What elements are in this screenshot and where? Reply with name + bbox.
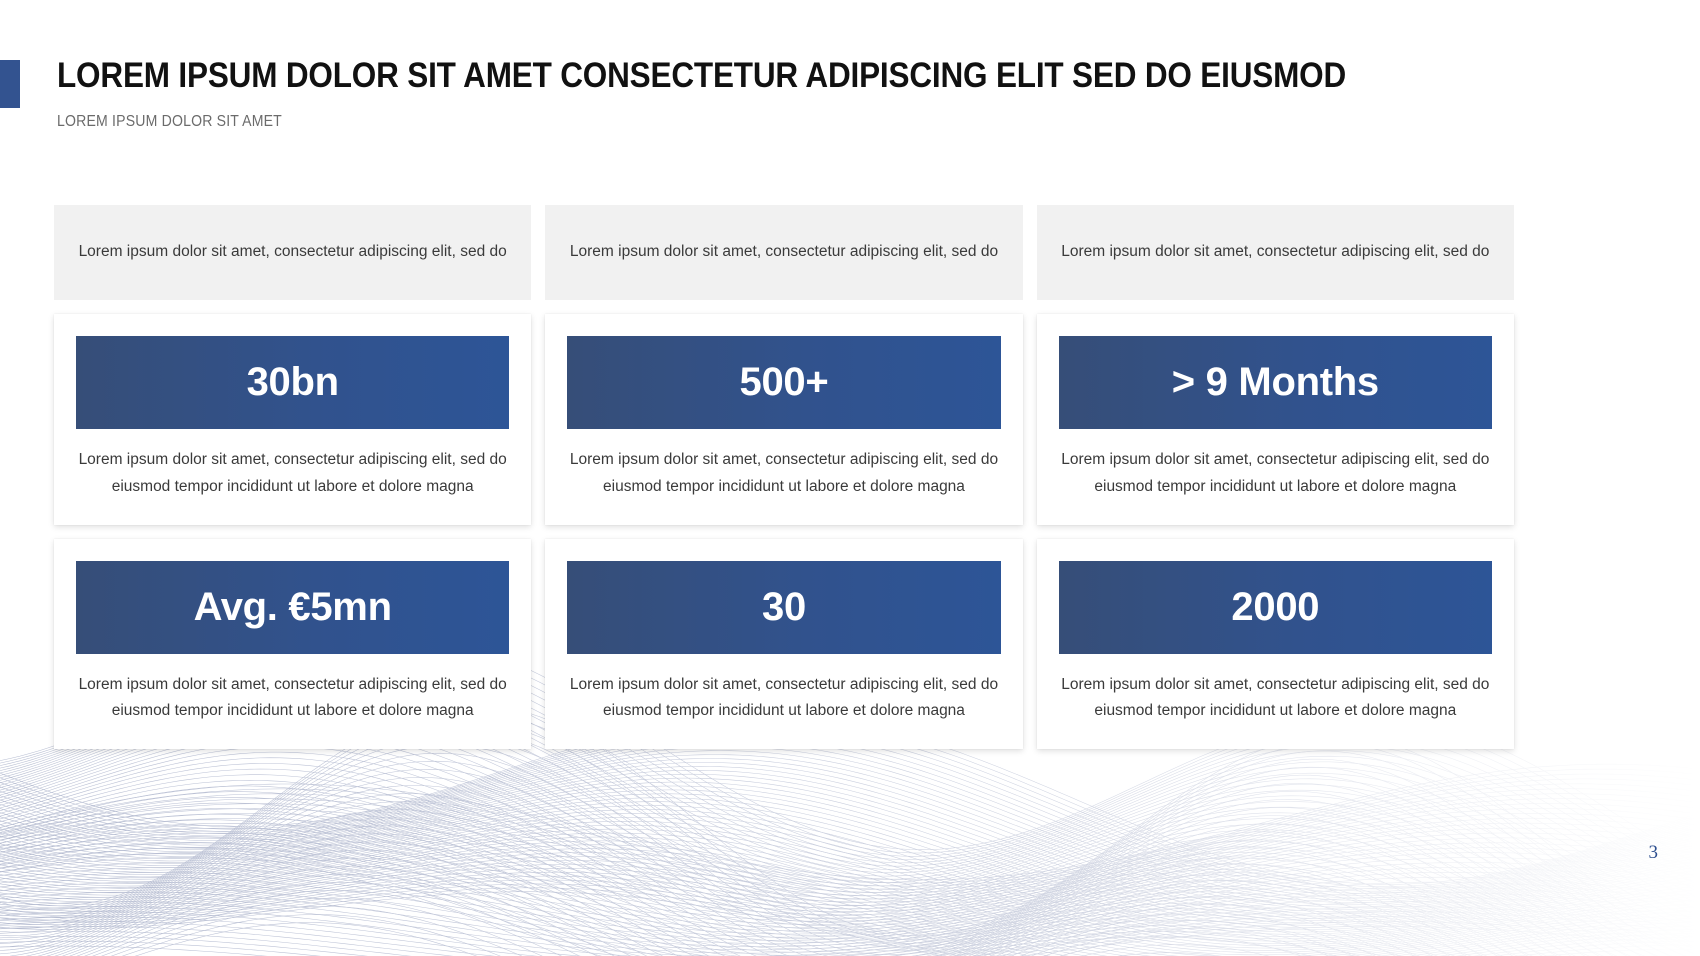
stat-description: Lorem ipsum dolor sit amet, consectetur … [1059, 447, 1492, 501]
stat-banner: Avg. €5mn [76, 561, 509, 654]
stat-banner: > 9 Months [1059, 336, 1492, 429]
page-subtitle: LOREM IPSUM DOLOR SIT AMET [57, 113, 282, 131]
stat-value: 2000 [1231, 585, 1319, 630]
stats-column: Lorem ipsum dolor sit amet, consectetur … [54, 205, 531, 749]
stat-value: 30bn [247, 360, 339, 405]
stat-card[interactable]: Avg. €5mn Lorem ipsum dolor sit amet, co… [54, 539, 531, 750]
page-title: LOREM IPSUM DOLOR SIT AMET CONSECTETUR A… [57, 58, 1346, 93]
stat-description: Lorem ipsum dolor sit amet, consectetur … [567, 447, 1000, 501]
stat-banner: 500+ [567, 336, 1000, 429]
stat-banner: 30bn [76, 336, 509, 429]
stat-value: > 9 Months [1172, 360, 1379, 405]
column-header-text: Lorem ipsum dolor sit amet, consectetur … [79, 240, 507, 264]
stat-description: Lorem ipsum dolor sit amet, consectetur … [76, 447, 509, 501]
stats-column: Lorem ipsum dolor sit amet, consectetur … [545, 205, 1022, 749]
column-header-text: Lorem ipsum dolor sit amet, consectetur … [570, 240, 998, 264]
stat-banner: 2000 [1059, 561, 1492, 654]
stat-description: Lorem ipsum dolor sit amet, consectetur … [567, 672, 1000, 726]
stat-description: Lorem ipsum dolor sit amet, consectetur … [1059, 672, 1492, 726]
stat-card[interactable]: 2000 Lorem ipsum dolor sit amet, consect… [1037, 539, 1514, 750]
stats-grid: Lorem ipsum dolor sit amet, consectetur … [54, 205, 1514, 749]
stat-value: Avg. €5mn [194, 585, 392, 630]
column-header-card: Lorem ipsum dolor sit amet, consectetur … [545, 205, 1022, 300]
stats-column: Lorem ipsum dolor sit amet, consectetur … [1037, 205, 1514, 749]
stat-card[interactable]: 30bn Lorem ipsum dolor sit amet, consect… [54, 314, 531, 525]
column-header-card: Lorem ipsum dolor sit amet, consectetur … [1037, 205, 1514, 300]
title-accent-bar [0, 60, 20, 108]
page-number: 3 [1649, 842, 1659, 864]
stat-banner: 30 [567, 561, 1000, 654]
column-header-card: Lorem ipsum dolor sit amet, consectetur … [54, 205, 531, 300]
column-header-text: Lorem ipsum dolor sit amet, consectetur … [1061, 240, 1489, 264]
stat-card[interactable]: 30 Lorem ipsum dolor sit amet, consectet… [545, 539, 1022, 750]
stat-value: 500+ [740, 360, 829, 405]
stat-description: Lorem ipsum dolor sit amet, consectetur … [76, 672, 509, 726]
stat-card[interactable]: > 9 Months Lorem ipsum dolor sit amet, c… [1037, 314, 1514, 525]
stat-value: 30 [762, 585, 806, 630]
stat-card[interactable]: 500+ Lorem ipsum dolor sit amet, consect… [545, 314, 1022, 525]
slide-header: LOREM IPSUM DOLOR SIT AMET CONSECTETUR A… [0, 0, 1700, 160]
